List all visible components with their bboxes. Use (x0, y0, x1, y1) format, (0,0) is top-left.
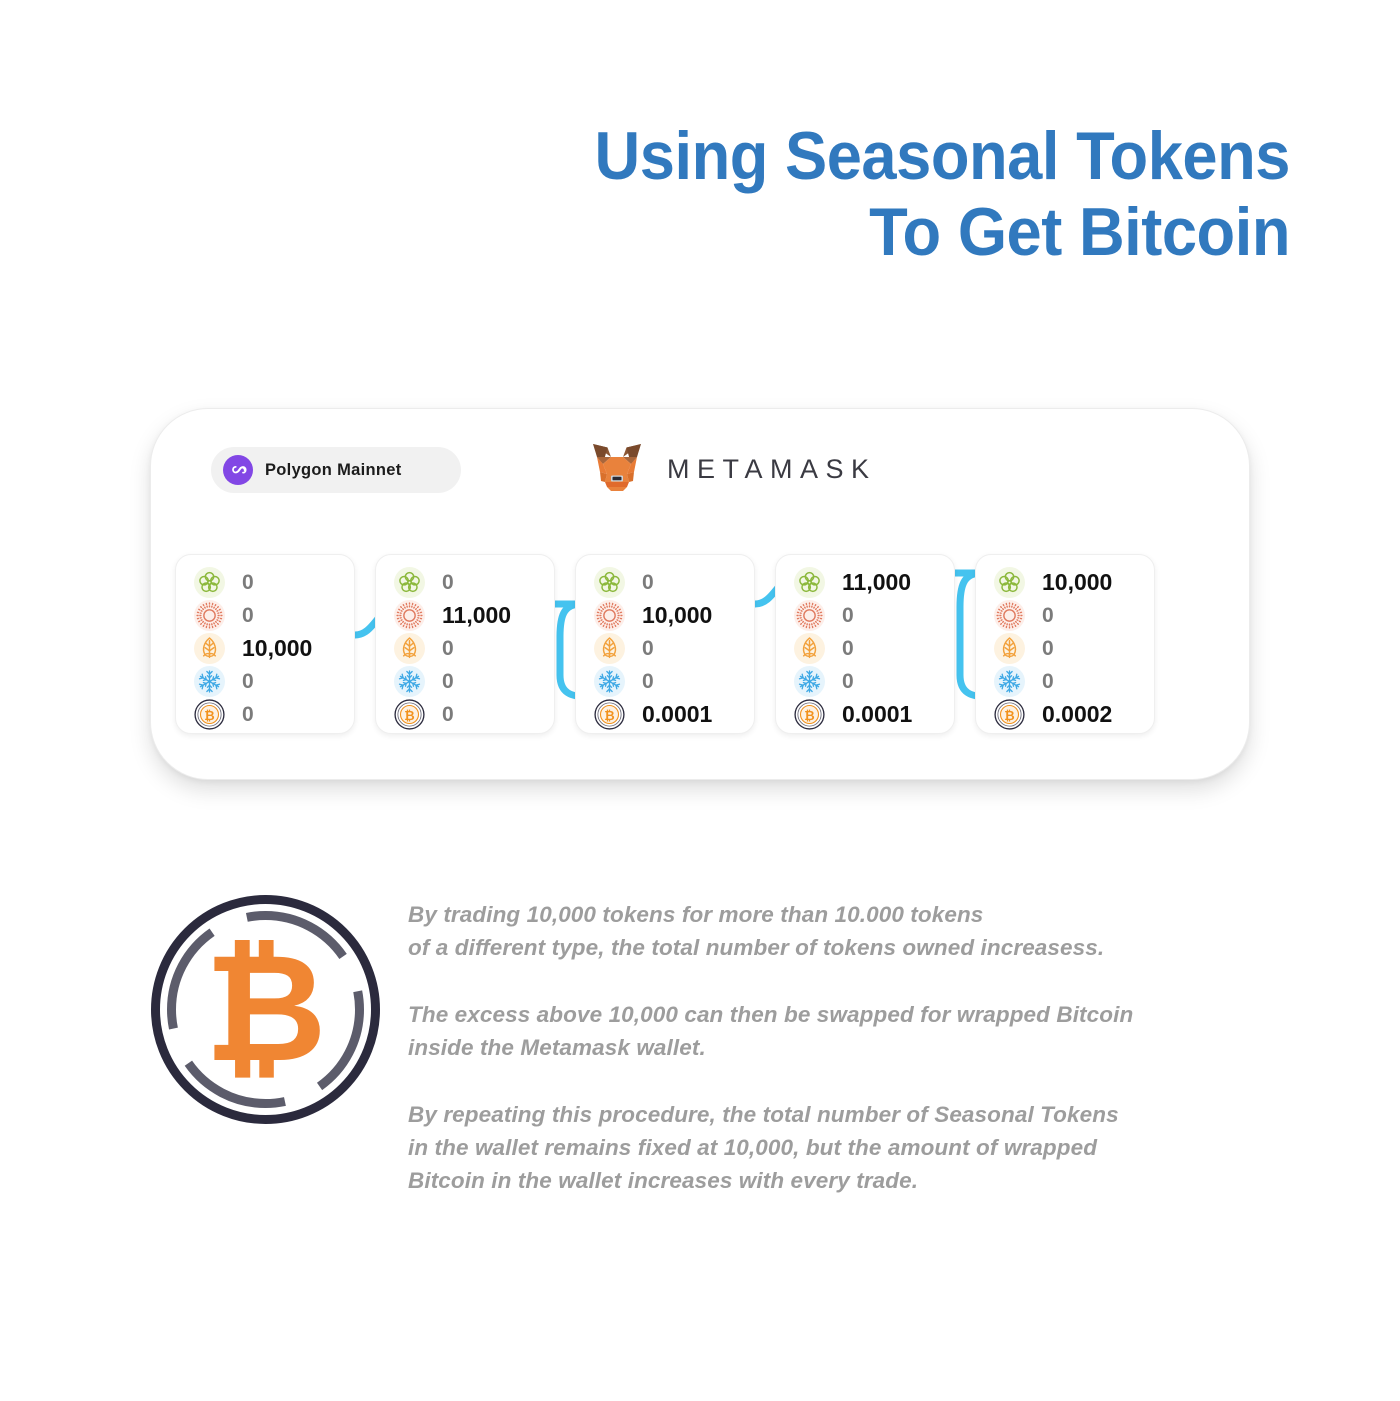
wrapped-bitcoin-icon: ₿ (594, 699, 625, 730)
svg-text:₿: ₿ (204, 924, 326, 1092)
winter-snowflake-icon (794, 666, 825, 697)
token-row-winter: 0 (394, 666, 554, 697)
token-row-autumn: 10,000 (194, 633, 354, 664)
winter-snowflake-icon (394, 666, 425, 697)
token-amount-autumn: 0 (842, 637, 854, 661)
wrapped-bitcoin-icon: ₿ (994, 699, 1025, 730)
token-row-bitcoin: ₿0 (394, 699, 554, 730)
token-amount-spring: 11,000 (842, 569, 911, 596)
wallet-panel: Polygon Mainnet ME (150, 408, 1250, 780)
svg-text:₿: ₿ (404, 708, 414, 723)
token-amount-bitcoin: 0.0001 (642, 701, 712, 728)
token-row-spring: 0 (394, 567, 554, 598)
token-row-autumn: 0 (394, 633, 554, 664)
token-amount-winter: 0 (642, 670, 654, 694)
summer-sun-icon (194, 600, 225, 631)
wrapped-bitcoin-icon: ₿ (194, 699, 225, 730)
spring-flower-icon (194, 567, 225, 598)
token-row-summer: 11,000 (394, 600, 554, 631)
token-row-spring: 11,000 (794, 567, 954, 598)
explanation-paragraph-3: By repeating this procedure, the total n… (408, 1098, 1288, 1197)
explanation-paragraph-2: The excess above 10,000 can then be swap… (408, 998, 1288, 1064)
page-title: Using Seasonal Tokens To Get Bitcoin (0, 118, 1290, 270)
token-row-winter: 0 (994, 666, 1154, 697)
token-amount-winter: 0 (1042, 670, 1054, 694)
winter-snowflake-icon (194, 666, 225, 697)
svg-text:₿: ₿ (804, 708, 814, 723)
token-row-winter: 0 (794, 666, 954, 697)
token-row-spring: 0 (194, 567, 354, 598)
token-row-bitcoin: ₿0 (194, 699, 354, 730)
token-balance-card: 011,00000₿0 (375, 554, 555, 734)
token-amount-summer: 0 (242, 604, 254, 628)
token-amount-spring: 0 (642, 571, 654, 595)
autumn-leaf-icon (794, 633, 825, 664)
wrapped-bitcoin-icon: ₿ (394, 699, 425, 730)
token-amount-summer: 10,000 (642, 602, 712, 629)
bitcoin-circle-icon: ₿ (148, 892, 383, 1127)
autumn-leaf-icon (994, 633, 1025, 664)
token-amount-autumn: 0 (442, 637, 454, 661)
winter-snowflake-icon (994, 666, 1025, 697)
token-balance-card: 010,00000₿0.0001 (575, 554, 755, 734)
token-amount-spring: 0 (442, 571, 454, 595)
token-amount-autumn: 0 (1042, 637, 1054, 661)
summer-sun-icon (994, 600, 1025, 631)
token-balance-card: 11,000000₿0.0001 (775, 554, 955, 734)
token-amount-winter: 0 (442, 670, 454, 694)
token-row-summer: 10,000 (594, 600, 754, 631)
summer-sun-icon (594, 600, 625, 631)
page-title-line-1: Using Seasonal Tokens (90, 118, 1290, 194)
token-amount-bitcoin: 0 (242, 703, 254, 727)
explanation-text: By trading 10,000 tokens for more than 1… (408, 898, 1288, 1231)
token-amount-autumn: 10,000 (242, 635, 312, 662)
winter-snowflake-icon (594, 666, 625, 697)
summer-sun-icon (394, 600, 425, 631)
token-balance-card: 10,000000₿0.0002 (975, 554, 1155, 734)
summer-sun-icon (794, 600, 825, 631)
spring-flower-icon (794, 567, 825, 598)
token-amount-bitcoin: 0 (442, 703, 454, 727)
svg-text:₿: ₿ (1004, 708, 1014, 723)
token-cards-row: 0010,0000₿0011,00000₿0010,00000₿0.000111… (151, 409, 1251, 781)
token-row-bitcoin: ₿0.0002 (994, 699, 1154, 730)
token-row-spring: 10,000 (994, 567, 1154, 598)
svg-text:₿: ₿ (204, 708, 214, 723)
token-row-winter: 0 (594, 666, 754, 697)
token-balance-card: 0010,0000₿0 (175, 554, 355, 734)
token-row-autumn: 0 (994, 633, 1154, 664)
token-amount-spring: 0 (242, 571, 254, 595)
token-amount-winter: 0 (242, 670, 254, 694)
token-row-spring: 0 (594, 567, 754, 598)
svg-text:₿: ₿ (604, 708, 614, 723)
token-row-summer: 0 (194, 600, 354, 631)
token-row-bitcoin: ₿0.0001 (794, 699, 954, 730)
token-row-bitcoin: ₿0.0001 (594, 699, 754, 730)
explanation-paragraph-1: By trading 10,000 tokens for more than 1… (408, 898, 1288, 964)
token-row-summer: 0 (994, 600, 1154, 631)
token-amount-bitcoin: 0.0001 (842, 701, 912, 728)
token-amount-bitcoin: 0.0002 (1042, 701, 1112, 728)
token-amount-summer: 0 (842, 604, 854, 628)
token-amount-winter: 0 (842, 670, 854, 694)
token-amount-spring: 10,000 (1042, 569, 1112, 596)
token-row-summer: 0 (794, 600, 954, 631)
token-row-winter: 0 (194, 666, 354, 697)
token-amount-summer: 11,000 (442, 602, 511, 629)
autumn-leaf-icon (594, 633, 625, 664)
token-amount-autumn: 0 (642, 637, 654, 661)
token-amount-summer: 0 (1042, 604, 1054, 628)
wrapped-bitcoin-icon: ₿ (794, 699, 825, 730)
spring-flower-icon (594, 567, 625, 598)
spring-flower-icon (994, 567, 1025, 598)
spring-flower-icon (394, 567, 425, 598)
page-title-line-2: To Get Bitcoin (90, 194, 1290, 270)
autumn-leaf-icon (194, 633, 225, 664)
token-row-autumn: 0 (594, 633, 754, 664)
autumn-leaf-icon (394, 633, 425, 664)
token-row-autumn: 0 (794, 633, 954, 664)
